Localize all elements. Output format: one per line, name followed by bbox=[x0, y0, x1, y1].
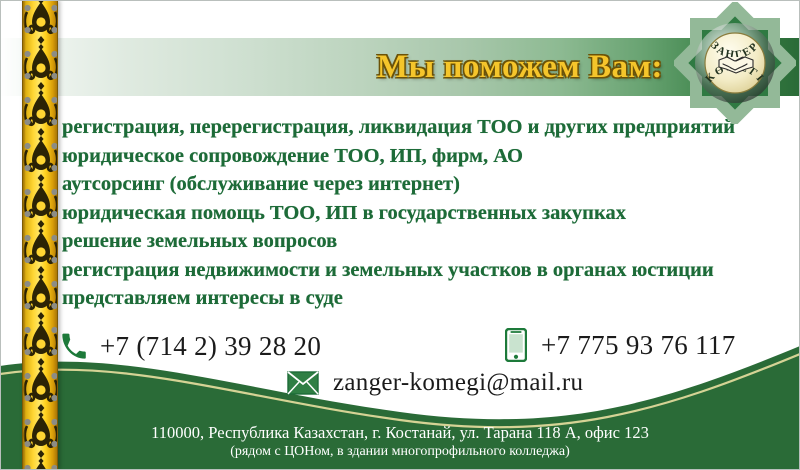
email-contact-row[interactable]: zanger-komegi@mail.ru bbox=[287, 369, 583, 397]
mobile-contact-row[interactable]: +7 775 93 76 117 bbox=[505, 328, 736, 362]
phone-number: +7 (714 2) 39 28 20 bbox=[100, 331, 321, 362]
envelope-icon bbox=[287, 371, 319, 395]
business-card: Мы поможем Вам: bbox=[0, 0, 800, 470]
address-note: (рядом с ЦОНом, в здании многопрофильног… bbox=[0, 443, 800, 461]
mobile-phone-icon bbox=[505, 328, 527, 362]
phone-contact-row[interactable]: +7 (714 2) 39 28 20 bbox=[60, 331, 321, 362]
phone-handset-icon bbox=[60, 333, 88, 361]
zanger-komegi-logo: ЗАҢГЕР КӨМЕГІ bbox=[674, 2, 796, 124]
mobile-number: +7 775 93 76 117 bbox=[541, 330, 736, 361]
address-line: 110000, Республика Казахстан, г. Костана… bbox=[0, 422, 800, 443]
footer-address-block: 110000, Республика Казахстан, г. Костана… bbox=[0, 422, 800, 470]
email-address: zanger-komegi@mail.ru bbox=[333, 369, 583, 397]
